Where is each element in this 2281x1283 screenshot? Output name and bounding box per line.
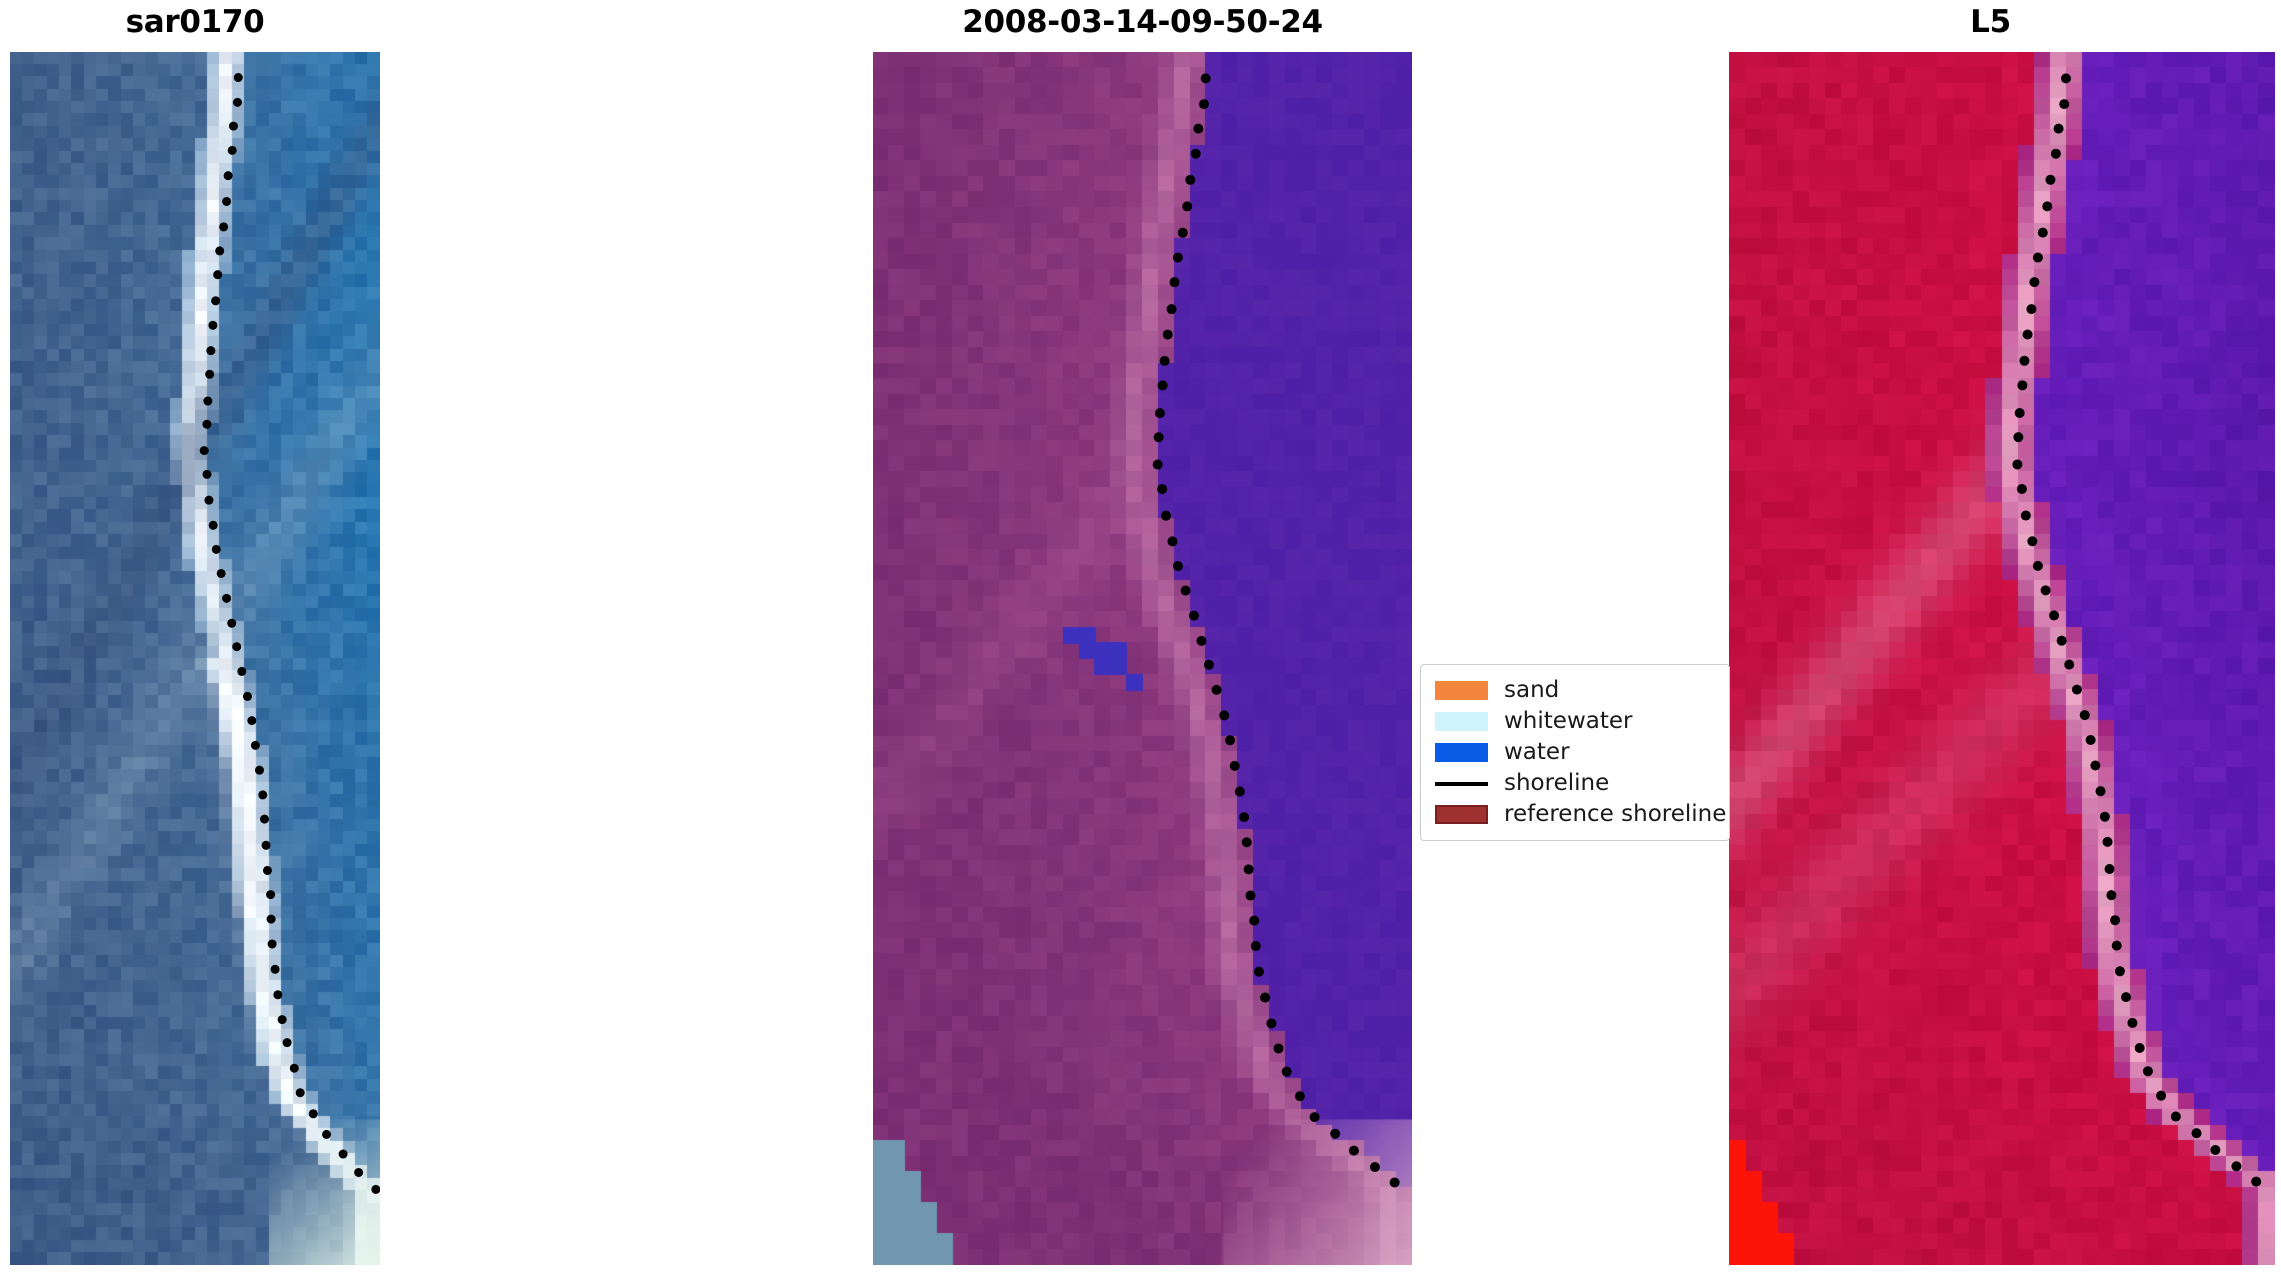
panel-title-rgb: sar0170 (0, 0, 390, 44)
legend-item-reference-buffer[interactable]: reference shoreline buf (1435, 799, 1717, 830)
legend-item-sand[interactable]: sand (1435, 675, 1717, 706)
satellite-index-panel: L5 (1700, 0, 2281, 1283)
classified-image-raster (873, 52, 1412, 1265)
water-swatch (1435, 743, 1488, 762)
satellite-index-raster (1729, 52, 2275, 1265)
legend-label-reference-buffer: reference shoreline buf (1504, 803, 1730, 826)
sand-swatch (1435, 681, 1488, 700)
classified-image-panel: 2008-03-14-09-50-24 (850, 0, 1435, 1283)
classification-legend: sand whitewater water shoreline referenc… (1420, 664, 1730, 841)
shoreline-overlay-classification (873, 52, 1412, 1265)
legend-label-water: water (1504, 741, 1570, 764)
legend-item-whitewater[interactable]: whitewater (1435, 706, 1717, 737)
panel-title-classification: 2008-03-14-09-50-24 (850, 0, 1435, 44)
legend-label-shoreline: shoreline (1504, 772, 1609, 795)
shoreline-overlay-satellite (1729, 52, 2275, 1265)
legend-label-sand: sand (1504, 679, 1559, 702)
rgb-image-raster (10, 52, 380, 1265)
rgb-image-panel: sar0170 (0, 0, 390, 1283)
shoreline-overlay-rgb (10, 52, 380, 1265)
reference-buffer-swatch (1435, 805, 1488, 824)
legend-item-water[interactable]: water (1435, 737, 1717, 768)
whitewater-swatch (1435, 712, 1488, 731)
legend-label-whitewater: whitewater (1504, 710, 1632, 733)
figure-canvas: sar0170 2008-03-14-09-50-24 L5 sand whit… (0, 0, 2281, 1283)
shoreline-line-icon (1435, 782, 1488, 786)
panel-title-satellite: L5 (1700, 0, 2281, 44)
legend-item-shoreline[interactable]: shoreline (1435, 768, 1717, 799)
